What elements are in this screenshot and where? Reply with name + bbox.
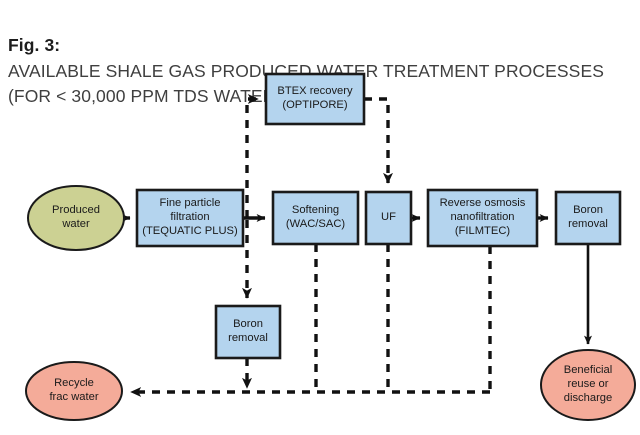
node-beneficial-reuse-or-discharge[interactable] <box>541 350 635 420</box>
flowchart-diagram <box>0 0 640 435</box>
connector-btex-to-uf <box>364 99 388 183</box>
node-produced-water[interactable] <box>28 186 124 250</box>
node-btex-recovery[interactable] <box>266 74 364 124</box>
node-recycle-frac-water[interactable] <box>26 362 122 420</box>
node-layer <box>26 74 635 420</box>
connector-filtration-to-btex <box>247 99 258 218</box>
node-reverse-osmosis-nanofiltration[interactable] <box>428 190 537 246</box>
node-uf[interactable] <box>366 192 411 244</box>
node-fine-particle-filtration[interactable] <box>137 190 243 246</box>
node-boron-removal-lower[interactable] <box>216 306 280 358</box>
node-softening[interactable] <box>273 192 358 244</box>
node-boron-removal-right[interactable] <box>556 192 620 244</box>
figure-container: Fig. 3: AVAILABLE SHALE GAS PRODUCED WAT… <box>0 0 640 435</box>
